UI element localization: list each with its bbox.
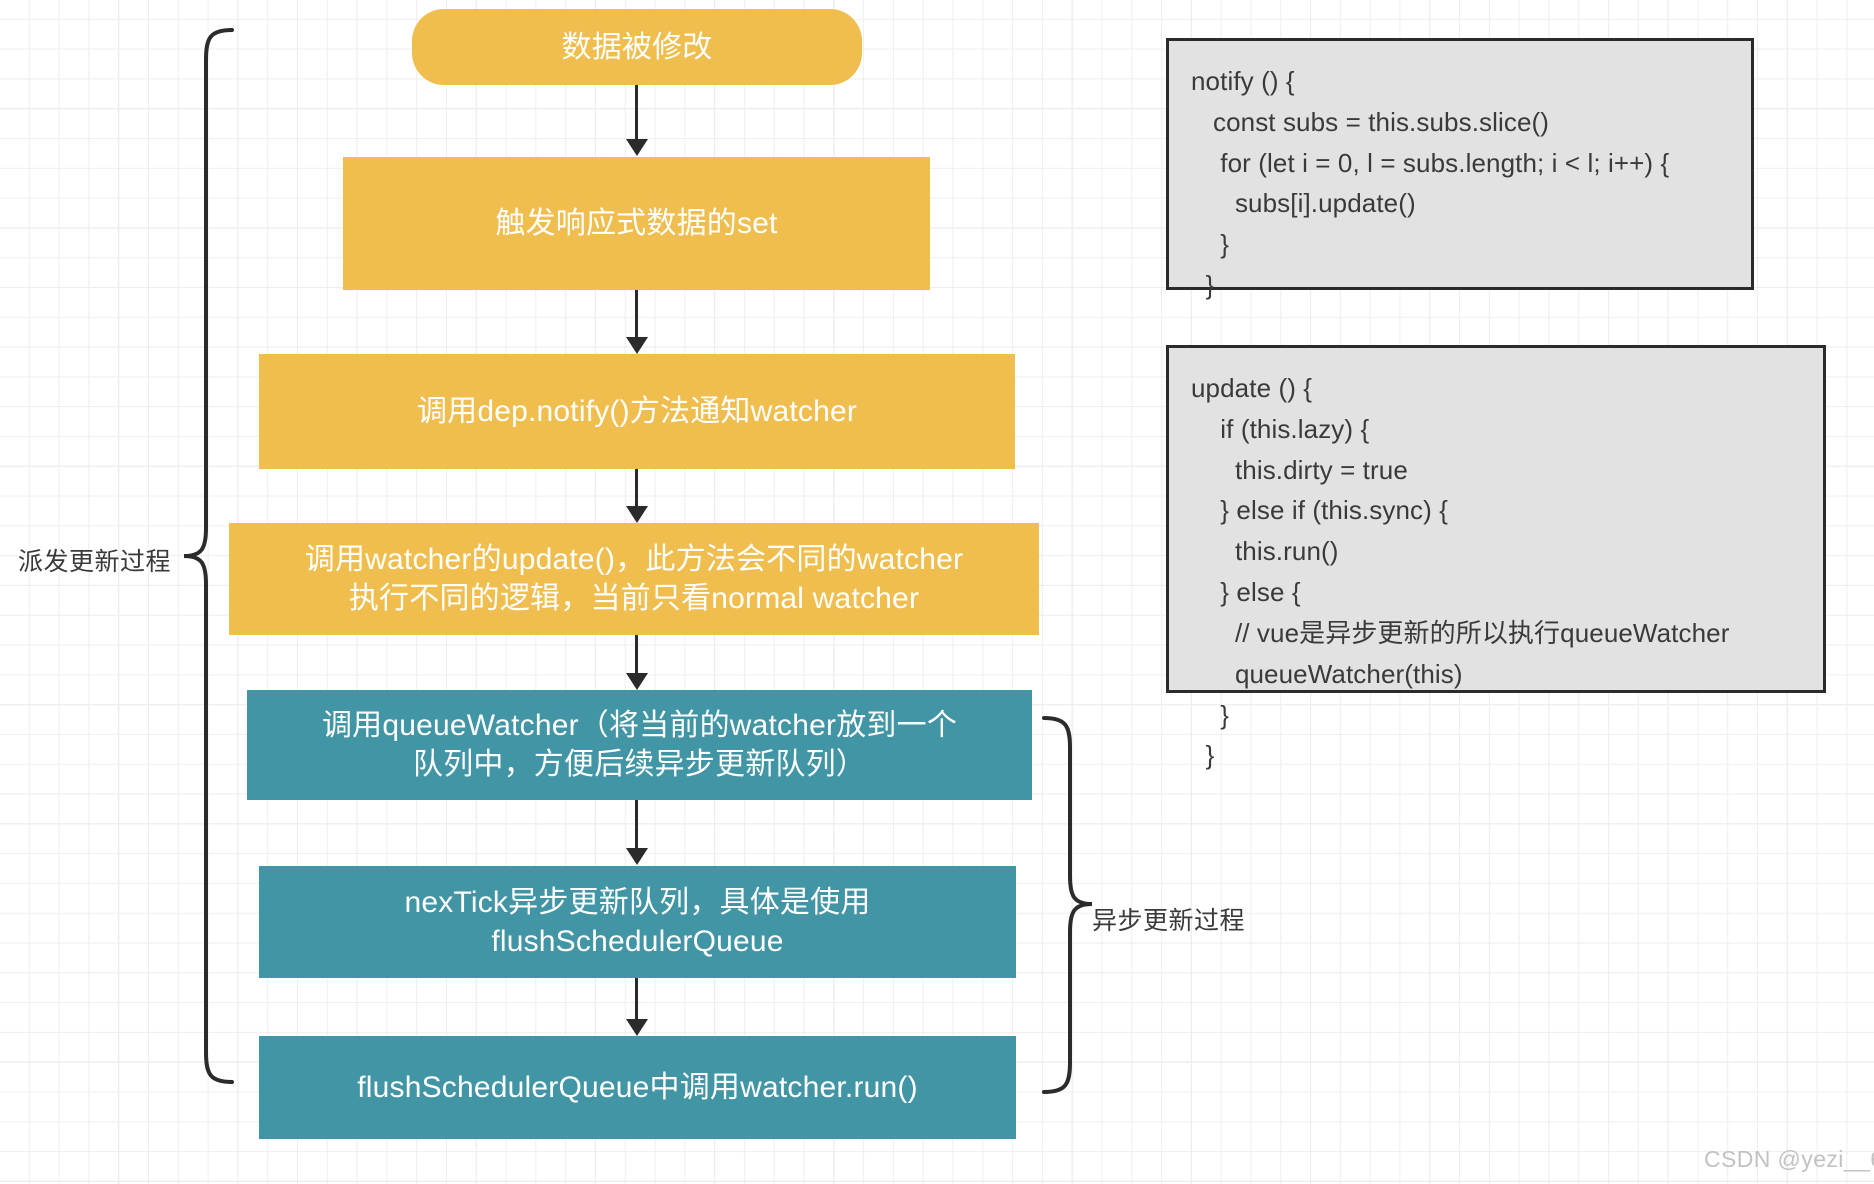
edge-data-modified-to-trigger-set — [635, 85, 638, 141]
code-panel-notify: notify () { const subs = this.subs.slice… — [1166, 38, 1754, 290]
edge-dep-notify-to-watcher-update — [635, 469, 638, 507]
edge-queue-watcher-to-next-tick — [635, 800, 638, 849]
edge-watcher-update-to-queue-watcher — [635, 635, 638, 674]
edge-next-tick-to-flush-run — [635, 978, 638, 1020]
flow-node-flush-run[interactable]: flushSchedulerQueue中调用watcher.run() — [259, 1036, 1016, 1139]
brace-left — [180, 26, 236, 1086]
arrowhead-watcher-update — [626, 506, 648, 523]
flow-node-watcher-update[interactable]: 调用watcher的update()，此方法会不同的watcher 执行不同的逻… — [229, 523, 1039, 635]
group-label-right: 异步更新过程 — [1092, 901, 1245, 937]
edge-trigger-set-to-dep-notify — [635, 290, 638, 338]
diagram-canvas: 数据被修改 触发响应式数据的set 调用dep.notify()方法通知watc… — [0, 0, 1874, 1184]
group-label-left: 派发更新过程 — [18, 542, 171, 578]
flow-node-data-modified[interactable]: 数据被修改 — [412, 9, 862, 85]
arrowhead-flush-run — [626, 1019, 648, 1036]
arrowhead-trigger-set — [626, 139, 648, 156]
flow-node-dep-notify[interactable]: 调用dep.notify()方法通知watcher — [259, 354, 1015, 469]
arrowhead-dep-notify — [626, 337, 648, 354]
arrowhead-queue-watcher — [626, 673, 648, 690]
watermark: CSDN @yezi__626 — [1704, 1146, 1874, 1173]
arrowhead-next-tick — [626, 848, 648, 865]
flow-node-next-tick[interactable]: nexTick异步更新队列，具体是使用 flushSchedulerQueue — [259, 866, 1016, 978]
flow-node-queue-watcher[interactable]: 调用queueWatcher（将当前的watcher放到一个 队列中，方便后续异… — [247, 690, 1032, 800]
brace-right — [1040, 714, 1096, 1096]
flow-node-trigger-set[interactable]: 触发响应式数据的set — [343, 157, 930, 290]
code-panel-update: update () { if (this.lazy) { this.dirty … — [1166, 345, 1826, 693]
